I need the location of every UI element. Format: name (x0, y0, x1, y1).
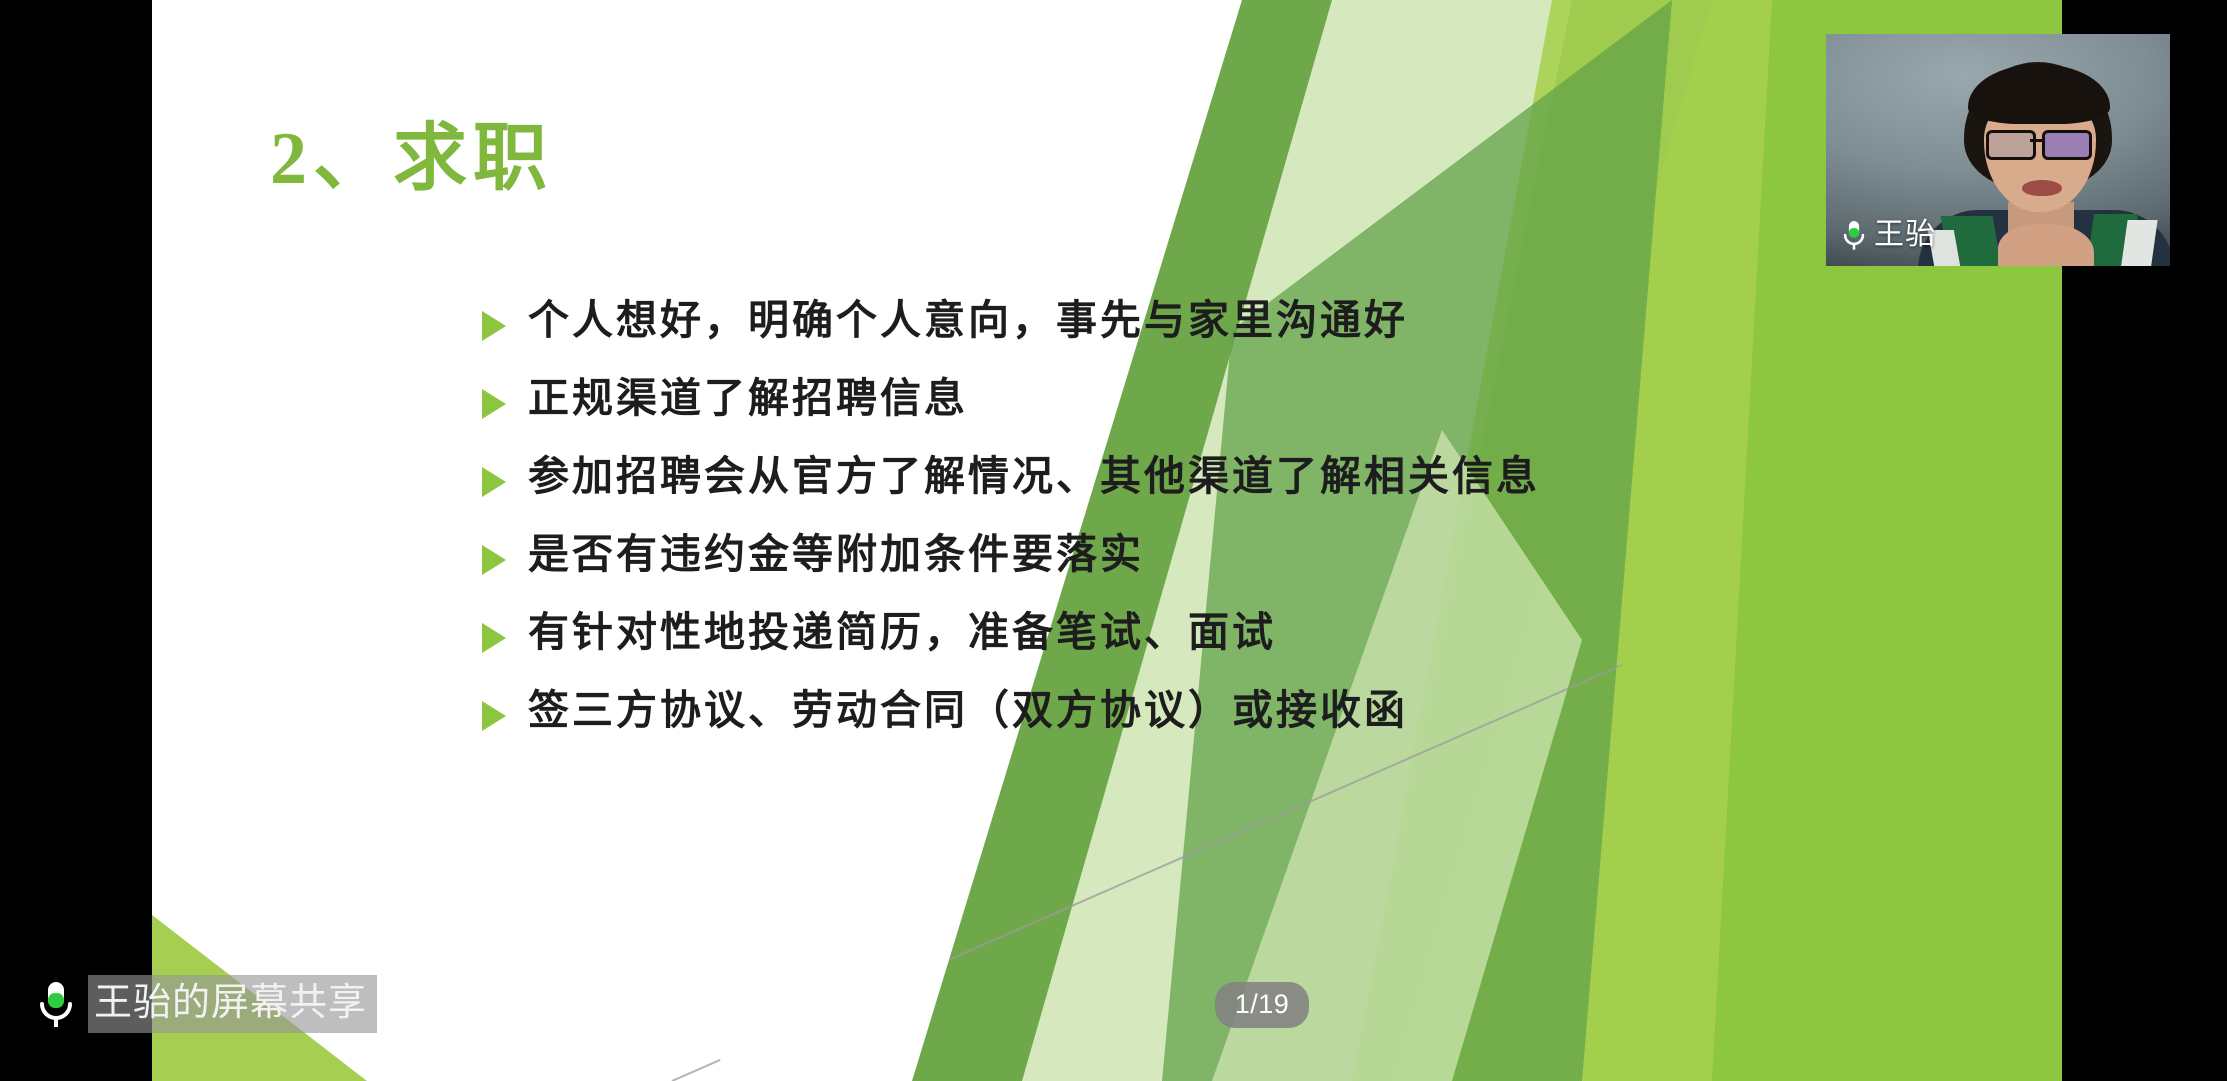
triangle-bullet-icon (482, 701, 506, 731)
list-item-label: 签三方协议、劳动合同（双方协议）或接收函 (528, 682, 1408, 738)
webcam-video-thumbnail[interactable]: 王骀 (1826, 34, 2170, 266)
presentation-slide[interactable]: 2、求职 个人想好，明确个人意向，事先与家里沟通好 正规渠道了解招聘信息 参加招… (152, 0, 2062, 1081)
screen-share-banner: 王骀的屏幕共享 (34, 973, 391, 1035)
webcam-name-tag: 王骀 (1840, 218, 1936, 252)
triangle-bullet-icon (482, 467, 506, 497)
triangle-bullet-icon (482, 311, 506, 341)
list-item: 有针对性地投递简历，准备笔试、面试 (482, 604, 1982, 682)
list-item-label: 有针对性地投递简历，准备笔试、面试 (528, 604, 1276, 660)
slide-title: 2、求职 (270, 98, 553, 205)
list-item-label: 参加招聘会从官方了解情况、其他渠道了解相关信息 (528, 448, 1540, 504)
list-item: 个人想好，明确个人意向，事先与家里沟通好 (482, 292, 1982, 370)
microphone-icon (34, 978, 78, 1030)
list-item: 正规渠道了解招聘信息 (482, 370, 1982, 448)
list-item-label: 正规渠道了解招聘信息 (528, 370, 968, 426)
bullet-list: 个人想好，明确个人意向，事先与家里沟通好 正规渠道了解招聘信息 参加招聘会从官方… (482, 292, 1982, 760)
list-item: 参加招聘会从官方了解情况、其他渠道了解相关信息 (482, 448, 1982, 526)
screen-share-label: 王骀的屏幕共享 (88, 975, 377, 1033)
list-item-label: 个人想好，明确个人意向，事先与家里沟通好 (528, 292, 1408, 348)
list-item-label: 是否有违约金等附加条件要落实 (528, 526, 1144, 582)
triangle-bullet-icon (482, 389, 506, 419)
list-item: 是否有违约金等附加条件要落实 (482, 526, 1982, 604)
triangle-bullet-icon (482, 623, 506, 653)
webcam-person-mouth (2022, 180, 2062, 196)
microphone-icon (1840, 218, 1868, 252)
screen-share-view: 2、求职 个人想好，明确个人意向，事先与家里沟通好 正规渠道了解招聘信息 参加招… (0, 0, 2227, 1081)
webcam-person-glasses (1986, 130, 2096, 156)
glasses-lens-right (2042, 130, 2092, 160)
triangle-bullet-icon (482, 545, 506, 575)
list-item: 签三方协议、劳动合同（双方协议）或接收函 (482, 682, 1982, 760)
page-indicator[interactable]: 1/19 (1215, 982, 1309, 1028)
glasses-bridge (2030, 139, 2042, 142)
webcam-participant-name: 王骀 (1874, 218, 1936, 252)
glasses-lens-left (1986, 130, 2036, 160)
